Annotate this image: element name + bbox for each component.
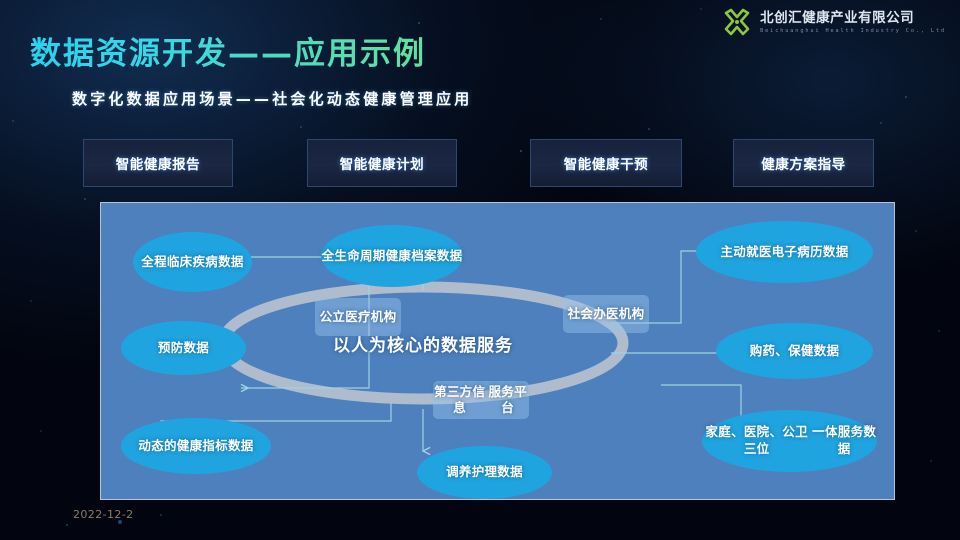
top-box-label: 健康方案指导: [761, 153, 846, 173]
label-private-medical-institution[interactable]: 社会办医机构: [563, 295, 649, 333]
top-box-health-plan[interactable]: 智能健康计划: [307, 139, 457, 187]
brand-name-en: Beichuanghui Health Industry Co., Ltd: [760, 29, 946, 34]
node-pharmacy-health-data[interactable]: 购药、保健数据: [716, 323, 873, 379]
footer-date: 2022-12-2: [73, 508, 134, 521]
top-box-health-report[interactable]: 智能健康报告: [83, 139, 233, 187]
node-active-visit-emr-data[interactable]: 主动就医电子病历数据: [696, 221, 873, 283]
node-lifecycle-health-record-data[interactable]: 全生命周期健康档案数据: [321, 225, 463, 287]
diagram-panel: 以人为核心的数据服务 全程临床疾病数据 预防数据 全生命周期健康档案数据 主动就…: [100, 202, 895, 500]
top-box-label: 智能健康计划: [340, 153, 425, 173]
node-clinical-data[interactable]: 全程临床疾病数据: [133, 232, 252, 292]
node-prevention-data[interactable]: 预防数据: [121, 321, 246, 375]
top-box-label: 智能健康干预: [564, 153, 649, 173]
interlocking-x-logo-icon: [722, 8, 752, 38]
brand-name-cn: 北创汇健康产业有限公司: [760, 12, 946, 26]
node-trinity-service-data[interactable]: 家庭、医院、公卫三位一体服务数据: [702, 410, 877, 472]
top-box-row: 智能健康报告 智能健康计划 智能健康干预 健康方案指导: [0, 139, 960, 185]
top-box-label: 智能健康报告: [116, 153, 201, 173]
brand-logo: 北创汇健康产业有限公司 Beichuanghui Health Industry…: [722, 8, 946, 38]
page-subtitle: 数字化数据应用场景——社会化动态健康管理应用: [72, 88, 472, 109]
node-dynamic-health-indicator-data[interactable]: 动态的健康指标数据: [121, 418, 271, 474]
label-public-medical-institution[interactable]: 公立医疗机构: [315, 298, 401, 336]
top-box-health-intervention[interactable]: 智能健康干预: [530, 139, 682, 187]
page-title: 数据资源开发——应用示例: [30, 28, 426, 73]
label-third-party-info-platform[interactable]: 第三方信息服务平台: [433, 381, 529, 419]
node-nursing-care-data[interactable]: 调养护理数据: [417, 446, 552, 499]
top-box-health-guidance[interactable]: 健康方案指导: [733, 139, 874, 187]
